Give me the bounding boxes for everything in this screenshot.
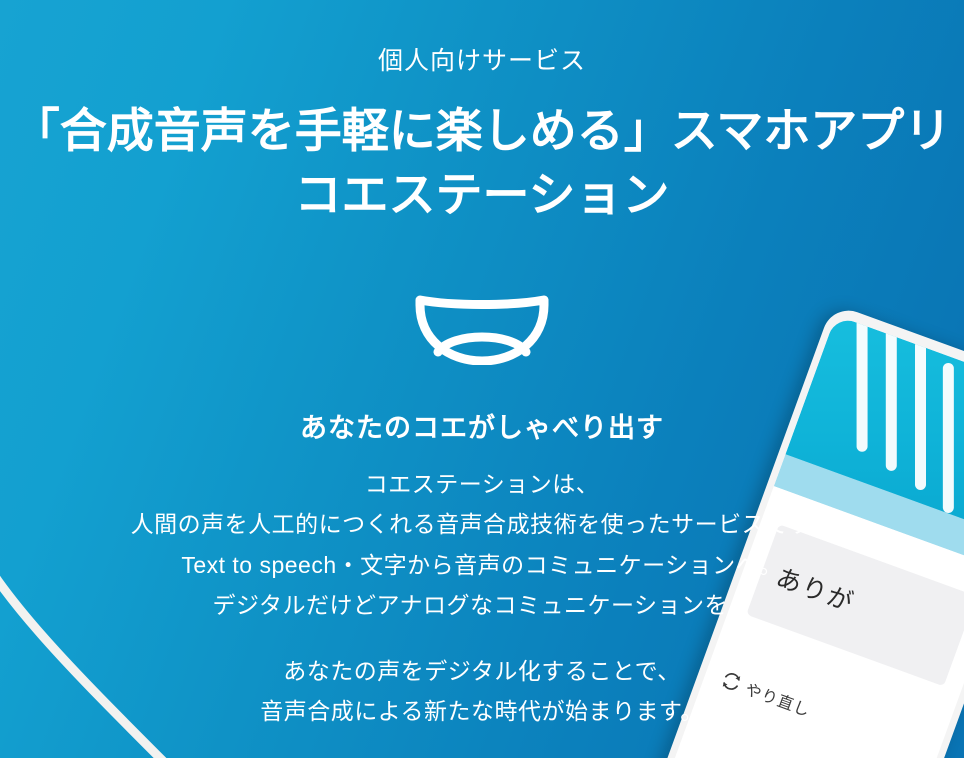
paragraph-line: デジタルだけどアナログなコミュニケーションを。 [0,585,964,625]
headline-line-2: コエステーション [0,163,964,227]
hero-paragraph-two: あなたの声をデジタル化することで、 音声合成による新たな時代が始まります。 [0,625,964,732]
hero-section: ありが やり直し 個人向けサービス 「 [0,0,964,758]
headline-line-1: 「合成音声を手軽に楽しめる」スマホアプリ [0,99,964,163]
hero-headline: 「合成音声を手軽に楽しめる」スマホアプリ コエステーション [0,77,964,227]
paragraph-line: コエステーションは、 [0,464,964,504]
paragraph-line: あなたの声をデジタル化することで、 [0,651,964,691]
paragraph-line: Text to speech・文字から音声のコミュニケーションへ。 [0,545,964,585]
koestation-mouth-logo-icon [412,291,552,365]
hero-content: 個人向けサービス 「合成音声を手軽に楽しめる」スマホアプリ コエステーション あ… [0,0,964,732]
hero-paragraph-one: コエステーションは、 人間の声を人工的につくれる音声合成技術を使ったサービスです… [0,446,964,625]
hero-eyebrow: 個人向けサービス [0,0,964,77]
hero-lead: あなたのコエがしゃべり出す [0,365,964,446]
paragraph-line: 人間の声を人工的につくれる音声合成技術を使ったサービスです。 [0,504,964,544]
brand-logo [0,227,964,365]
paragraph-line: 音声合成による新たな時代が始まります。 [0,691,964,731]
